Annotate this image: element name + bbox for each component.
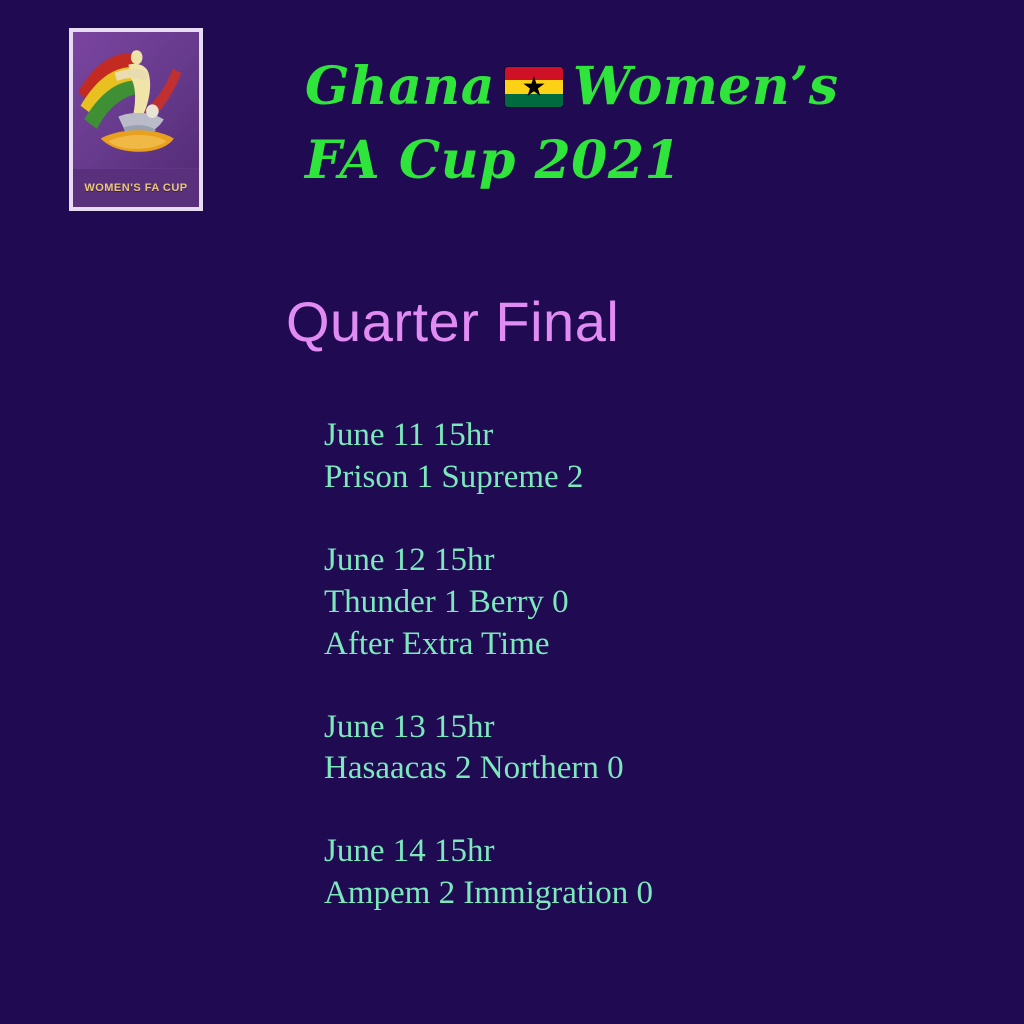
- header: WOMEN'S FA CUP Ghana Women’s FA Cup 2021: [0, 0, 1024, 230]
- flag-band-green: [505, 94, 563, 107]
- fixture-datetime: June 14 15hr: [324, 831, 964, 873]
- page-title: Ghana Women’s FA Cup 2021: [305, 50, 945, 198]
- fixture-datetime: June 13 15hr: [324, 707, 964, 749]
- round-heading: Quarter Final: [286, 291, 619, 353]
- logo-caption: WOMEN'S FA CUP: [84, 182, 187, 194]
- logo-caption-band: WOMEN'S FA CUP: [73, 169, 199, 208]
- fixtures-list: June 11 15hr Prison 1 Supreme 2 June 12 …: [324, 415, 964, 915]
- fixture-result: Hasaacas 2 Northern 0: [324, 748, 964, 790]
- fixture-item: June 13 15hr Hasaacas 2 Northern 0: [324, 707, 964, 791]
- fixture-note: After Extra Time: [324, 624, 964, 666]
- title-text-ghana: Ghana: [305, 50, 495, 124]
- fixture-item: June 11 15hr Prison 1 Supreme 2: [324, 415, 964, 499]
- fixture-datetime: June 11 15hr: [324, 415, 964, 457]
- womens-fa-cup-trophy-icon: [73, 32, 199, 169]
- fixture-item: June 12 15hr Thunder 1 Berry 0 After Ext…: [324, 540, 964, 666]
- title-line-2: FA Cup 2021: [305, 124, 945, 198]
- logo-inner: WOMEN'S FA CUP: [73, 32, 199, 207]
- title-text-womens: Women’s: [573, 50, 839, 124]
- fixture-result: Prison 1 Supreme 2: [324, 457, 964, 499]
- fixture-item: June 14 15hr Ampem 2 Immigration 0: [324, 831, 964, 915]
- fixture-result: Ampem 2 Immigration 0: [324, 873, 964, 915]
- tournament-logo: WOMEN'S FA CUP: [69, 28, 203, 211]
- ghana-flag-icon: [505, 67, 563, 107]
- fixture-result: Thunder 1 Berry 0: [324, 582, 964, 624]
- fixture-datetime: June 12 15hr: [324, 540, 964, 582]
- title-line-1: Ghana Women’s: [305, 50, 945, 124]
